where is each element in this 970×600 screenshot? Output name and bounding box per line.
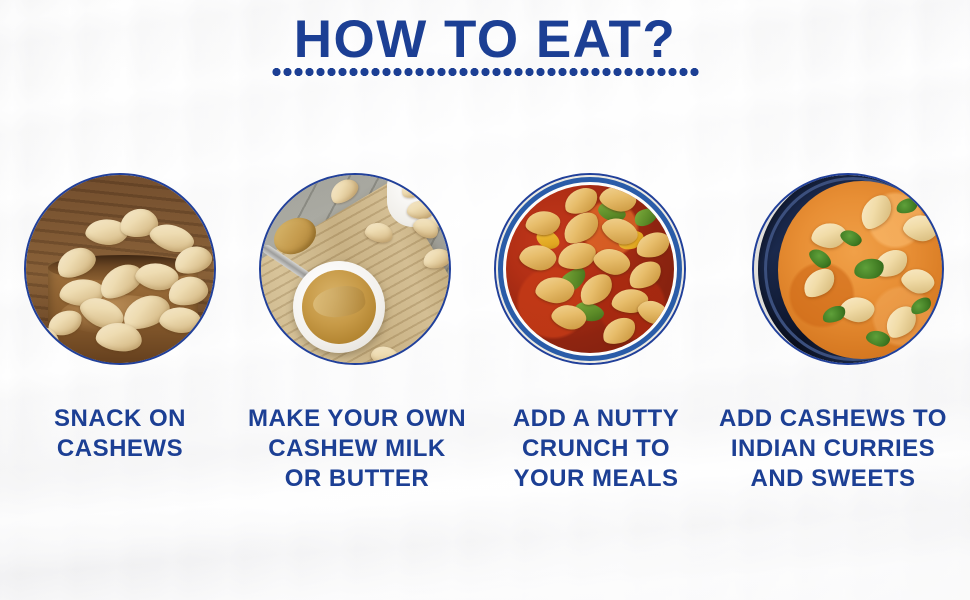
dotted-divider [271,68,699,76]
image-row [0,173,970,369]
image-circle-indian-curries-and-sweets [752,173,944,365]
caption-row: SNACK ON CASHEWS MAKE YOUR OWN CASHEW MI… [0,404,970,514]
caption-line: YOUR MEALS [487,464,705,494]
caption-line: AND SWEETS [702,464,964,494]
image-circle-cashew-milk-or-butter [259,173,451,365]
caption-line: OR BUTTER [226,464,488,494]
caption-line: ADD CASHEWS TO [702,404,964,434]
caption-line: MAKE YOUR OWN [226,404,488,434]
image-circle-nutty-crunch-meals [494,173,686,365]
page-title: HOW TO EAT? [294,12,677,68]
caption-line: CASHEWS [10,434,230,464]
how-to-eat-infographic: HOW TO EAT? [0,0,970,600]
photo-cashew-butter-board [261,175,449,363]
caption-cashew-milk-or-butter: MAKE YOUR OWN CASHEW MILK OR BUTTER [226,404,488,494]
caption-line: CASHEW MILK [226,434,488,464]
caption-indian-curries-and-sweets: ADD CASHEWS TO INDIAN CURRIES AND SWEETS [702,404,964,494]
photo-cashew-stir-fry [496,175,684,363]
caption-nutty-crunch-meals: ADD A NUTTY CRUNCH TO YOUR MEALS [487,404,705,494]
photo-wooden-bowl-of-cashews [26,175,214,363]
photo-cashew-curry-bowl [754,175,942,363]
caption-snack-on-cashews: SNACK ON CASHEWS [10,404,230,464]
caption-line: ADD A NUTTY [487,404,705,434]
page-title-wrap: HOW TO EAT? [0,12,970,68]
caption-line: INDIAN CURRIES [702,434,964,464]
image-circle-snack-on-cashews [24,173,216,365]
caption-line: CRUNCH TO [487,434,705,464]
caption-line: SNACK ON [10,404,230,434]
